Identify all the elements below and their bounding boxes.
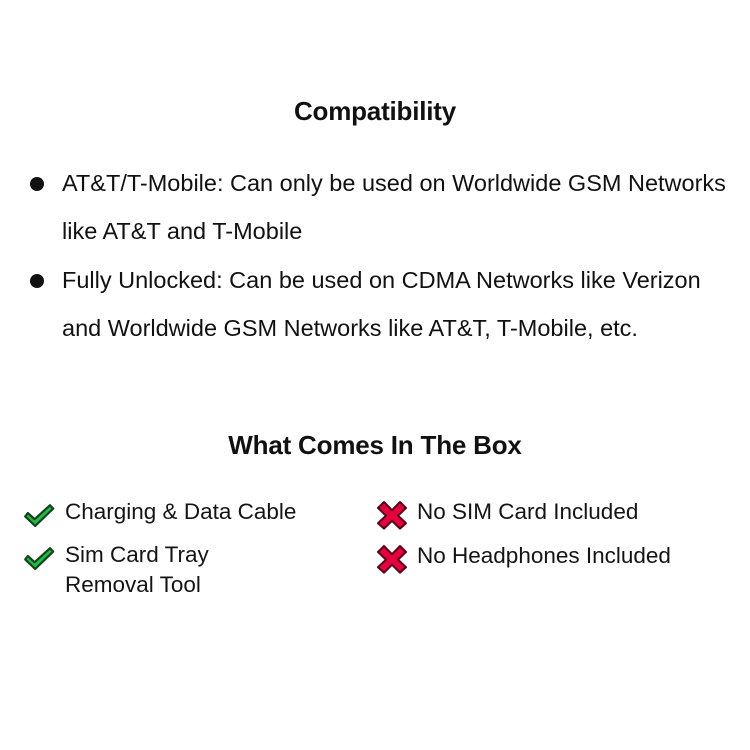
whats-in-the-box-heading: What Comes In The Box (0, 430, 750, 461)
red-x-mark-icon (375, 499, 409, 531)
included-item-label-line1: Charging & Data Cable (65, 499, 296, 524)
excluded-items-column: No SIM Card Included No Headphones Inclu… (375, 496, 735, 584)
product-info-panel: Compatibility AT&T/T-Mobile: Can only be… (0, 0, 750, 750)
compatibility-bullet-list: AT&T/T-Mobile: Can only be used on World… (0, 160, 750, 354)
included-item-label: Charging & Data Cable (65, 496, 372, 527)
red-x-mark-icon (375, 543, 409, 575)
list-item: AT&T/T-Mobile: Can only be used on World… (0, 160, 750, 255)
list-item: No Headphones Included (375, 540, 735, 584)
list-item: Sim Card Tray Removal Tool (22, 539, 372, 600)
included-item-label-line2: Removal Tool (65, 570, 372, 600)
filled-circle-bullet-icon (30, 274, 44, 288)
included-item-label: Sim Card Tray Removal Tool (65, 539, 372, 600)
list-item: No SIM Card Included (375, 496, 735, 540)
included-item-label-line1: Sim Card Tray (65, 542, 209, 567)
box-contents-grid: Charging & Data Cable Sim Card Tray Remo… (0, 496, 750, 646)
filled-circle-bullet-icon (30, 177, 44, 191)
compatibility-bullet-text: Fully Unlocked: Can be used on CDMA Netw… (62, 257, 730, 352)
excluded-item-label: No SIM Card Included (417, 496, 735, 527)
list-item: Fully Unlocked: Can be used on CDMA Netw… (0, 257, 750, 352)
green-check-mark-icon (22, 500, 56, 532)
excluded-item-label-line1: No SIM Card Included (417, 499, 638, 524)
excluded-item-label: No Headphones Included (417, 540, 735, 571)
excluded-item-label-line1: No Headphones Included (417, 543, 671, 568)
compatibility-heading: Compatibility (0, 96, 750, 127)
included-items-column: Charging & Data Cable Sim Card Tray Remo… (22, 496, 372, 600)
green-check-mark-icon (22, 543, 56, 575)
compatibility-bullet-text: AT&T/T-Mobile: Can only be used on World… (62, 160, 730, 255)
list-item: Charging & Data Cable (22, 496, 372, 539)
